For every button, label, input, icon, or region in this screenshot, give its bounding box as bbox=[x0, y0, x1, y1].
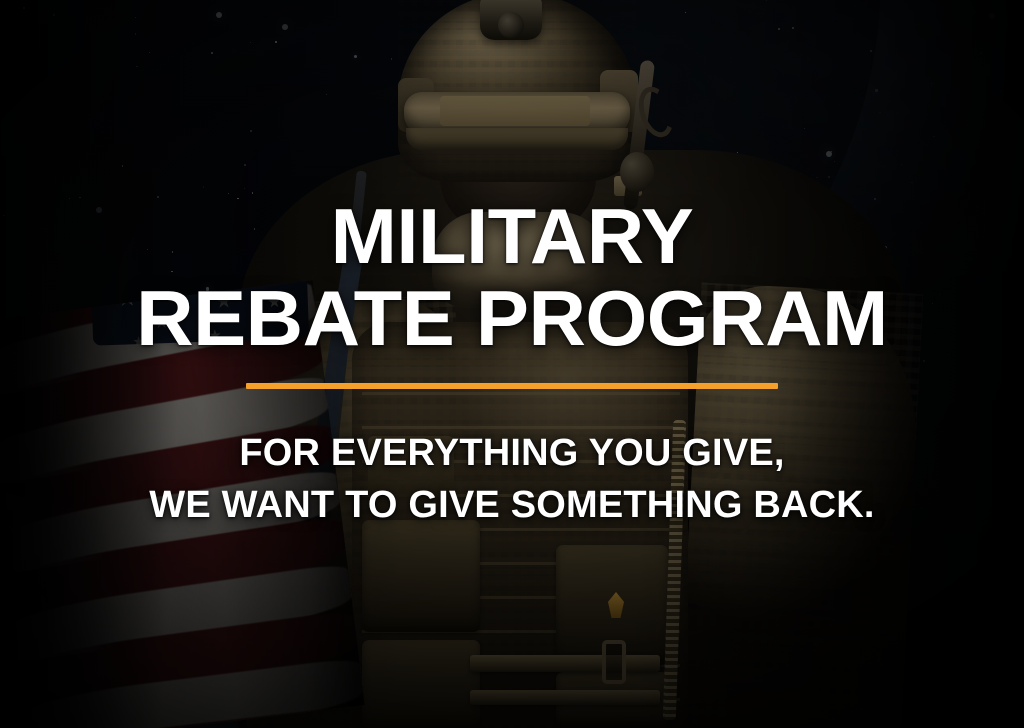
vest-strap bbox=[470, 690, 660, 705]
vest-flap bbox=[368, 436, 454, 498]
helmet-velcro-patch bbox=[440, 96, 590, 126]
flag-star bbox=[168, 280, 190, 282]
vest-strap bbox=[470, 655, 660, 672]
vest-buckle bbox=[602, 640, 626, 684]
soldier-neck-gaiter bbox=[432, 212, 608, 308]
flag-shading bbox=[0, 280, 365, 728]
camo-pattern bbox=[679, 282, 924, 728]
military-rebate-banner: MILITARY REBATE PROGRAM FOR EVERYTHING Y… bbox=[0, 0, 1024, 728]
night-vision-knob bbox=[498, 12, 524, 38]
vest-pouch bbox=[362, 520, 480, 632]
soldier-right-shoulder bbox=[679, 282, 924, 728]
soldier-photo bbox=[0, 0, 1024, 728]
vest-pouch bbox=[362, 640, 480, 728]
headset-assembly bbox=[624, 56, 676, 216]
american-flag bbox=[0, 280, 365, 728]
helmet-band bbox=[406, 128, 628, 150]
headset-earcup bbox=[620, 152, 654, 192]
